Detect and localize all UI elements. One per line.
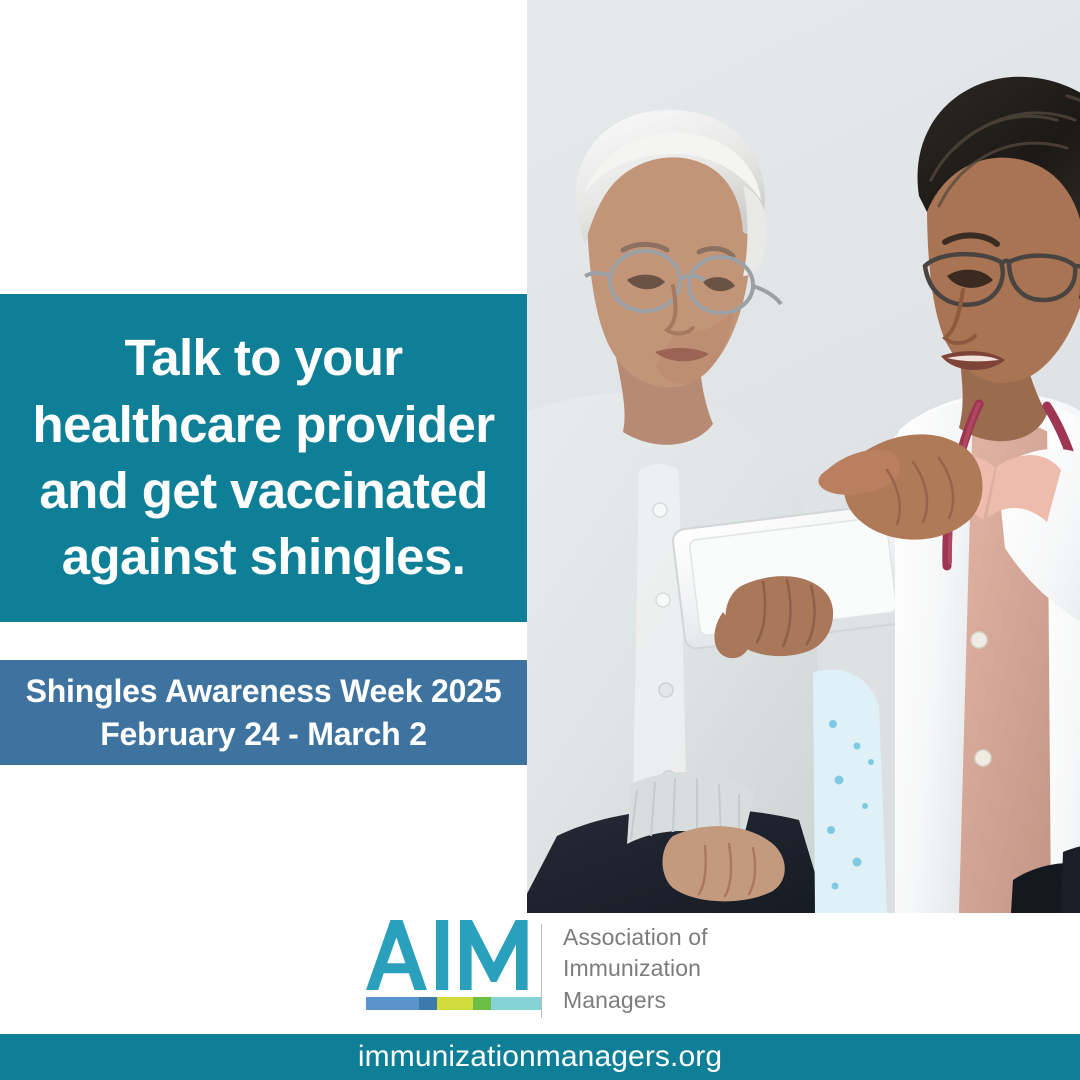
- aim-wordmark-icon: [366, 920, 541, 990]
- organization-name: Association of Immunization Managers: [542, 920, 708, 1016]
- date-banner-text: Shingles Awareness Week 2025 February 24…: [26, 670, 502, 754]
- aim-logo-lockup[interactable]: Association of Immunization Managers: [366, 920, 736, 1024]
- date-banner: Shingles Awareness Week 2025 February 24…: [0, 660, 527, 765]
- website-url[interactable]: immunizationmanagers.org: [358, 1040, 722, 1074]
- color-bar-segment-lime: [437, 997, 473, 1010]
- color-bar-segment-dark-blue: [419, 997, 437, 1010]
- hero-photo-illustration: [527, 0, 1080, 913]
- headline-block: Talk to your healthcare provider and get…: [0, 294, 527, 622]
- poster-canvas: Talk to your healthcare provider and get…: [0, 0, 1080, 1080]
- headline-text: Talk to your healthcare provider and get…: [17, 325, 511, 590]
- hero-photo: [527, 0, 1080, 913]
- color-bar-segment-blue: [366, 997, 419, 1010]
- aim-logo-mark: [366, 920, 541, 1010]
- aim-logo-color-bar: [366, 997, 541, 1010]
- color-bar-segment-green: [473, 997, 491, 1010]
- website-bar[interactable]: immunizationmanagers.org: [0, 1034, 1080, 1080]
- color-bar-segment-aqua: [491, 997, 541, 1010]
